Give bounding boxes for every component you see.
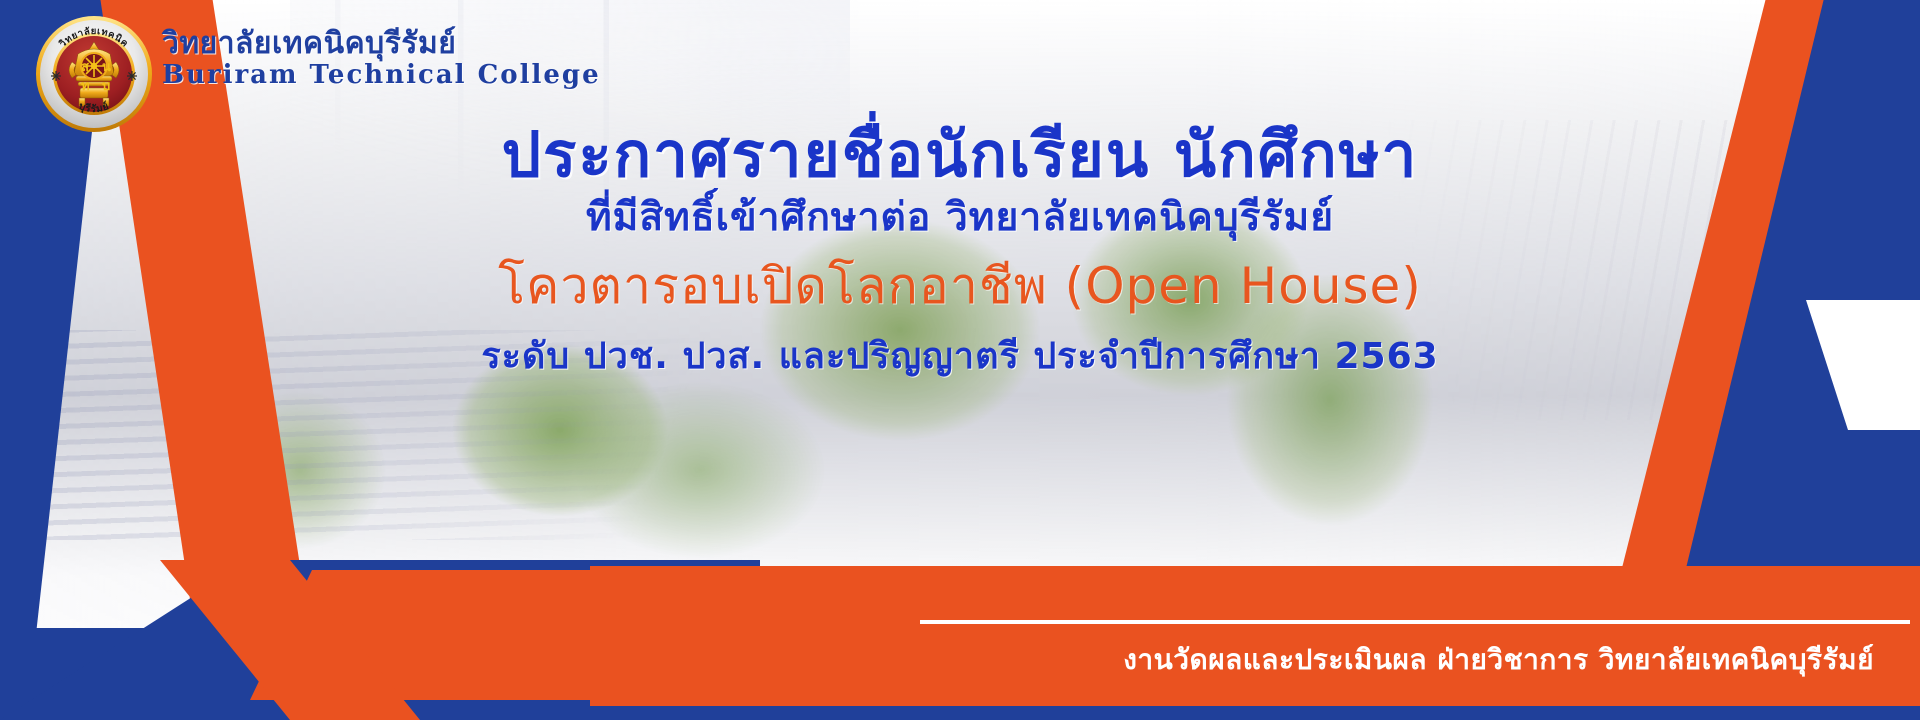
headline-line-4-levels-year: ระดับ ปวช. ปวส. และปริญญาตรี ประจำปีการศ…: [0, 325, 1920, 388]
headline-line-1: ประกาศรายชื่อนักเรียน นักศึกษา: [0, 120, 1920, 189]
footer-department-text: งานวัดผลและประเมินผล ฝ่ายวิชาการ วิทยาลั…: [1123, 638, 1874, 682]
headline-line-2: ที่มีสิทธิ์เข้าศึกษาต่อ วิทยาลัยเทคนิคบุ…: [0, 189, 1920, 248]
seal-letter-3: ท: [81, 79, 90, 94]
college-name-english: Buriram Technical College: [162, 62, 601, 90]
college-seal-icon: ส น ท บ วิทยาลัยเทคนิค บุรีรัมย์: [34, 14, 154, 134]
college-logo: ส น ท บ วิทยาลัยเทคนิค บุรีรัมย์: [34, 14, 154, 134]
seal-letter-2: น: [102, 60, 111, 75]
seal-letter-4: บ: [102, 79, 110, 94]
bottom-orange-band-extension: [590, 566, 1920, 706]
college-name-block: วิทยาลัยเทคนิคบุรีรัมย์ Buriram Technica…: [162, 28, 601, 89]
college-name-thai: วิทยาลัยเทคนิคบุรีรัมย์: [162, 28, 601, 60]
headline-block: ประกาศรายชื่อนักเรียน นักศึกษา ที่มีสิทธ…: [0, 120, 1920, 388]
headline-line-3-open-house: โควตารอบเปิดโลกอาชีพ (Open House): [0, 248, 1920, 326]
bottom-white-hairline: [920, 620, 1910, 624]
seal-letter-1: ส: [81, 60, 89, 75]
announcement-banner: ส น ท บ วิทยาลัยเทคนิค บุรีรัมย์ วิทยาลั…: [0, 0, 1920, 720]
